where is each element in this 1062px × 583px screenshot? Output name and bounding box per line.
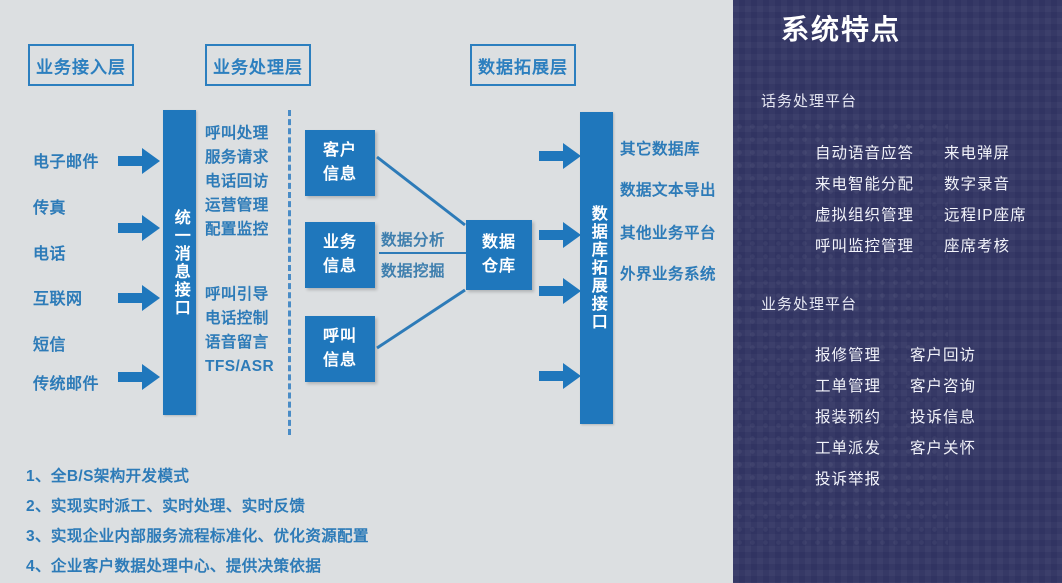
arrow-input-2 [118,215,160,241]
data-box-line2: 信息 [323,255,357,279]
arrow-input-3 [118,285,160,311]
function-item: 电话回访 [205,170,269,194]
panel-feature-item: 工单派发 [815,433,881,464]
panel-feature-item: 来电智能分配 [815,169,914,200]
panel-feature-item: 远程IP座席 [944,200,1027,231]
panel-feature-item: 自动语音应答 [815,138,914,169]
section-divider-dashed [288,110,291,435]
data-box-line2: 信息 [323,163,357,187]
function-item: 运营管理 [205,194,269,218]
function-item: 服务请求 [205,146,269,170]
layer-header-data: 数据拓展层 [470,44,576,86]
panel-feature-column-left-2: 报修管理 工单管理 报装预约 工单派发 投诉举报 [815,340,881,495]
data-box-warehouse: 数据 仓库 [466,220,532,290]
pillar-database-expansion-interface: 数据库拓展接口 [580,112,613,424]
data-box-line1: 数据 [482,231,516,255]
layer-header-process: 业务处理层 [205,44,311,86]
panel-feature-item: 座席考核 [944,231,1027,262]
panel-feature-item: 投诉信息 [910,402,976,433]
data-box-business-info: 业务 信息 [305,222,375,288]
bullet-item: 1、全B/S架构开发模式 [26,462,686,492]
panel-feature-item: 工单管理 [815,371,881,402]
layer-header-access: 业务接入层 [28,44,134,86]
output-label-other-database: 其它数据库 [620,137,700,159]
input-label-phone: 电话 [33,240,66,264]
architecture-diagram: 业务接入层 业务处理层 数据拓展层 电子邮件 传真 电话 互联网 短信 传统邮件… [0,0,733,583]
arrow-output-4 [539,363,581,389]
bullet-item: 3、实现企业内部服务流程标准化、优化资源配置 [26,522,686,552]
arrow-output-3 [539,278,581,304]
system-features-panel: 系统特点 话务处理平台 自动语音应答 来电智能分配 虚拟组织管理 呼叫监控管理 … [733,0,1062,583]
arrow-input-1 [118,148,160,174]
data-box-customer-info: 客户 信息 [305,130,375,196]
pillar-unified-message-interface: 统一消息接口 [163,110,196,415]
input-label-email: 电子邮件 [33,148,99,172]
data-box-call-info: 呼叫 信息 [305,316,375,382]
function-item: 电话控制 [205,307,274,331]
data-box-line1: 呼叫 [323,325,357,349]
data-box-line2: 信息 [323,349,357,373]
panel-feature-item: 报修管理 [815,340,881,371]
panel-title: 系统特点 [781,8,901,48]
function-item: 语音留言 [205,331,274,355]
panel-feature-item: 虚拟组织管理 [815,200,914,231]
function-item: 呼叫引导 [205,283,274,307]
input-label-fax: 传真 [33,194,66,218]
input-label-internet: 互联网 [33,285,83,309]
panel-feature-item: 投诉举报 [815,464,881,495]
panel-feature-item: 客户回访 [910,340,976,371]
panel-feature-item: 客户关怀 [910,433,976,464]
output-label-external-system: 外界业务系统 [620,262,716,284]
panel-section-title-business: 业务处理平台 [761,293,857,314]
panel-feature-column-right-1: 来电弹屏 数字录音 远程IP座席 座席考核 [944,138,1027,262]
output-label-other-platform: 其他业务平台 [620,221,716,243]
data-box-line1: 业务 [323,231,357,255]
panel-feature-item: 客户咨询 [910,371,976,402]
bullet-item: 4、企业客户数据处理中心、提供决策依据 [26,552,686,582]
panel-feature-column-left-1: 自动语音应答 来电智能分配 虚拟组织管理 呼叫监控管理 [815,138,914,262]
panel-feature-column-right-2: 客户回访 客户咨询 投诉信息 客户关怀 [910,340,976,464]
arrow-output-2 [539,222,581,248]
input-label-postal: 传统邮件 [33,370,99,394]
connector-customer-to-warehouse [375,155,467,232]
feature-bullet-list: 1、全B/S架构开发模式 2、实现实时派工、实时处理、实时反馈 3、实现企业内部… [26,462,686,582]
panel-feature-item: 来电弹屏 [944,138,1027,169]
data-box-line2: 仓库 [482,255,516,279]
panel-feature-item: 报装预约 [815,402,881,433]
function-item: TFS/ASR [205,355,274,379]
panel-section-title-call: 话务处理平台 [761,90,857,111]
process-divider-rule [379,252,469,254]
arrow-input-4 [118,364,160,390]
slide-root: 业务接入层 业务处理层 数据拓展层 电子邮件 传真 电话 互联网 短信 传统邮件… [0,0,1062,583]
connector-call-to-warehouse [375,288,467,355]
process-label-mining: 数据挖掘 [381,259,445,281]
function-item: 配置监控 [205,218,269,242]
function-item: 呼叫处理 [205,122,269,146]
panel-feature-item: 数字录音 [944,169,1027,200]
output-label-text-export: 数据文本导出 [620,178,716,200]
function-list-top: 呼叫处理 服务请求 电话回访 运营管理 配置监控 [205,122,269,242]
bullet-item: 2、实现实时派工、实时处理、实时反馈 [26,492,686,522]
input-label-sms: 短信 [33,331,66,355]
panel-feature-item: 呼叫监控管理 [815,231,914,262]
function-list-bottom: 呼叫引导 电话控制 语音留言 TFS/ASR [205,283,274,379]
arrow-output-1 [539,143,581,169]
process-label-analysis: 数据分析 [381,228,445,250]
data-box-line1: 客户 [323,139,357,163]
